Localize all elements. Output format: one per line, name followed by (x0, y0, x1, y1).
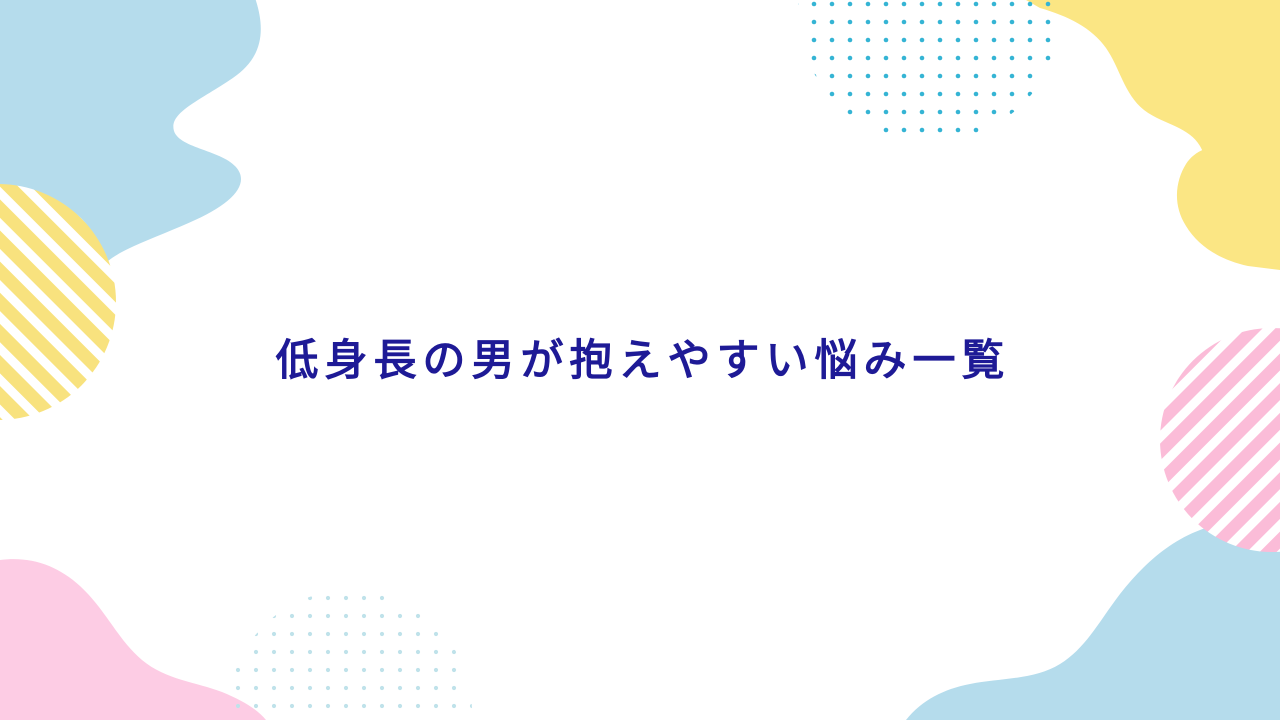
slide-canvas: 低身長の男が抱えやすい悩み一覧 (0, 0, 1280, 720)
background-fill (0, 0, 1280, 720)
decorative-background (0, 0, 1280, 720)
